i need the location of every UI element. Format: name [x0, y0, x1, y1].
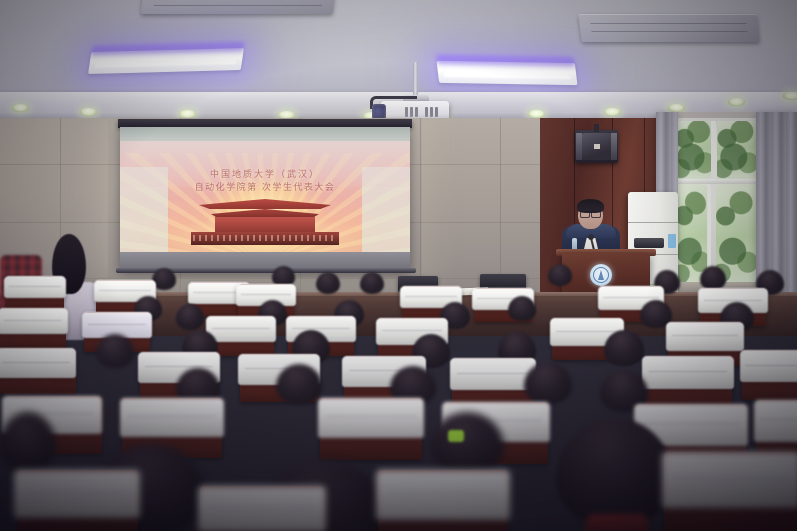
audience-head: [96, 334, 134, 368]
audience-head-foreground: [0, 412, 56, 472]
window-pane: [717, 121, 757, 179]
ceiling-light-panel: [436, 61, 577, 85]
curtain-right[interactable]: [756, 112, 797, 298]
seat-headrest-cover: [662, 452, 797, 508]
projected-slide: 中国地质大学（武汉） 自动化学院第 次学生代表大会: [120, 141, 410, 253]
ceiling-light-panel: [88, 48, 244, 74]
ceiling-vent: [141, 0, 335, 14]
audience-head: [276, 364, 322, 404]
audience-head: [360, 272, 384, 294]
seat-headrest-cover: [666, 322, 744, 351]
seat-headrest-cover: [0, 348, 76, 378]
projection-screen: 中国地质大学（武汉） 自动化学院第 次学生代表大会: [120, 127, 410, 270]
slide-title: 中国地质大学（武汉）: [120, 167, 410, 180]
window-pane: [675, 121, 713, 179]
seat-headrest-cover: [4, 276, 66, 298]
seat-headrest-cover: [198, 486, 326, 531]
projector-mount-pole: [413, 62, 418, 98]
auditorium-photo: 中国地质大学（武汉） 自动化学院第 次学生代表大会: [0, 0, 797, 531]
downlight-icon: [179, 110, 196, 118]
seat-headrest-cover: [0, 308, 68, 334]
microphone-head-icon: [588, 234, 594, 240]
downlight-icon: [668, 104, 685, 112]
glasses-icon: [580, 211, 601, 216]
seat-headrest-cover: [318, 398, 424, 438]
audience-head: [176, 304, 204, 330]
audience-head-foreground: [430, 412, 504, 474]
seat-headrest-cover: [120, 398, 224, 437]
audience-head: [508, 296, 536, 321]
foreground-person-collar: [586, 514, 648, 531]
audience-head: [548, 264, 572, 286]
seat-headrest-cover: [740, 350, 797, 382]
seat-headrest-cover: [754, 400, 797, 442]
university-emblem-icon: [590, 264, 612, 286]
audience-head: [700, 266, 726, 290]
tiananmen-illustration: [185, 199, 345, 245]
seat-headrest-cover: [642, 356, 734, 389]
downlight-icon: [728, 98, 745, 106]
seat-headrest-cover: [14, 470, 140, 518]
downlight-icon: [604, 108, 621, 116]
seat-headrest-cover: [206, 316, 276, 342]
ceiling-vent: [578, 14, 759, 42]
audience-head: [316, 272, 340, 294]
seat-headrest-cover: [376, 470, 510, 520]
downlight-icon: [12, 104, 29, 112]
downlight-icon: [528, 110, 545, 118]
wall-speaker: [575, 130, 618, 163]
window-mullion: [675, 179, 757, 184]
green-wristband: [448, 430, 464, 442]
audience-head: [524, 362, 572, 404]
slide-subtitle: 自动化学院第 次学生代表大会: [120, 180, 410, 193]
audience-head: [604, 330, 644, 366]
downlight-icon: [783, 92, 797, 100]
downlight-icon: [80, 108, 97, 116]
